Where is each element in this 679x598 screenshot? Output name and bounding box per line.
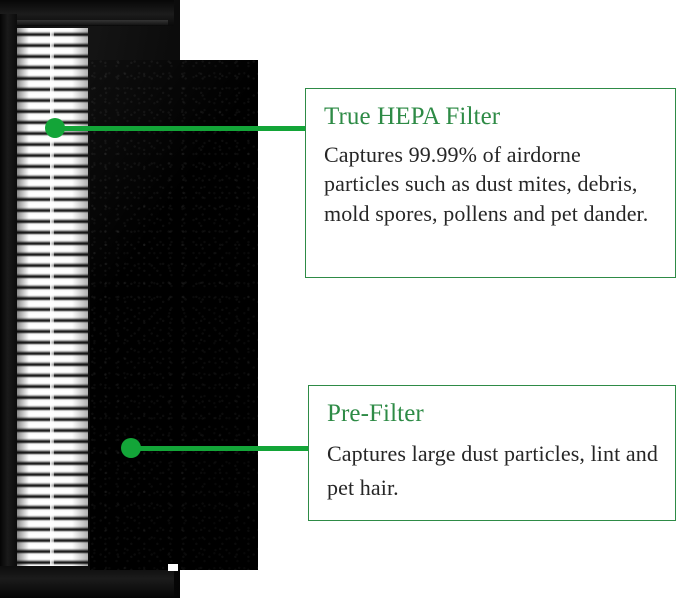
callout-prefilter-title: Pre-Filter	[327, 400, 659, 429]
prefilter-leader-line	[138, 446, 310, 451]
product-photo	[0, 0, 262, 598]
callout-prefilter-body: Captures large dust particles, lint and …	[327, 437, 659, 505]
callout-hepa: True HEPA Filter Captures 99.99% of aird…	[305, 88, 676, 278]
filter-frame-left-edge	[0, 14, 17, 598]
carbon-prefilter-panel	[90, 60, 258, 570]
hepa-leader-line	[62, 126, 308, 131]
hepa-center-brace	[50, 28, 54, 568]
prefilter-marker-dot	[121, 438, 141, 458]
filter-frame-top-highlight	[8, 20, 168, 25]
hepa-marker-dot	[45, 118, 65, 138]
callout-prefilter: Pre-Filter Captures large dust particles…	[308, 385, 676, 521]
callout-hepa-body: Captures 99.99% of airdorne particles su…	[324, 140, 659, 228]
filter-frame-bottom	[0, 566, 174, 598]
callout-hepa-title: True HEPA Filter	[324, 103, 659, 132]
carbon-prefilter-notch	[168, 564, 178, 571]
product-feature-diagram: True HEPA Filter Captures 99.99% of aird…	[0, 0, 679, 598]
